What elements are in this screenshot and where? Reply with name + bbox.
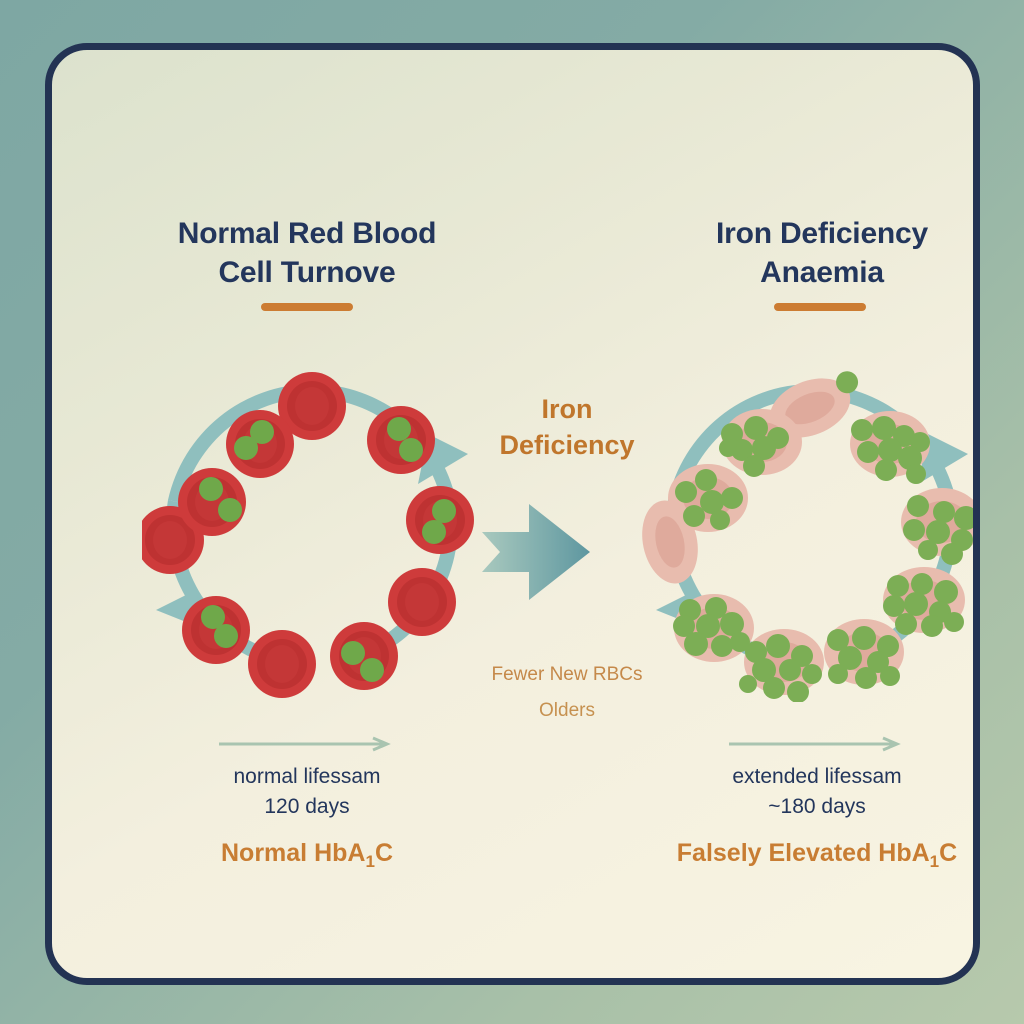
transition-note-2: Olders [457, 700, 677, 722]
transition-title: Iron Deficiency [457, 391, 677, 463]
right-title-line-1: Iron Deficiency [652, 214, 980, 253]
pale-blood-cells-right [642, 362, 980, 702]
left-hba1c-subscript: 1 [365, 852, 374, 871]
left-lifespan-label: normal lifessam [107, 762, 507, 792]
lifespan-arrow-right [727, 736, 907, 752]
right-hba1c-suffix: C [939, 839, 957, 867]
left-hba1c-suffix: C [375, 839, 393, 867]
infographic-panel: Normal Red Blood Cell Turnove Iron Defic… [45, 43, 980, 985]
right-hba1c-result: Falsely Elevated HbA1C [617, 839, 980, 872]
left-hba1c-prefix: Normal HbA [221, 839, 365, 867]
right-lifespan-days: ~180 days [617, 792, 980, 822]
transition-note-1: Fewer New RBCs [457, 664, 677, 686]
left-lifespan-days: 120 days [107, 792, 507, 822]
right-title-line-2: Anaemia [652, 253, 980, 292]
lifespan-arrow-left [217, 736, 397, 752]
transition-arrow [482, 490, 652, 615]
left-panel-title: Normal Red Blood Cell Turnove [137, 214, 477, 292]
normal-rbc-cycle-diagram [142, 362, 482, 702]
left-panel-footer: normal lifessam 120 days Normal HbA1C [107, 736, 507, 872]
right-panel-title: Iron Deficiency Anaemia [652, 214, 980, 292]
left-title-line-1: Normal Red Blood [137, 214, 477, 253]
left-title-underline [261, 303, 353, 311]
iron-deficiency-rbc-cycle-diagram [642, 362, 980, 702]
left-hba1c-result: Normal HbA1C [107, 839, 507, 872]
right-lifespan-label: extended lifessam [617, 762, 980, 792]
right-title-underline [774, 303, 866, 311]
red-blood-cells-left [142, 372, 474, 698]
right-panel-footer: extended lifessam ~180 days Falsely Elev… [617, 736, 980, 872]
transition-title-line-1: Iron [457, 391, 677, 427]
right-hba1c-prefix: Falsely Elevated HbA [677, 839, 930, 867]
right-hba1c-subscript: 1 [930, 852, 939, 871]
left-title-line-2: Cell Turnove [137, 253, 477, 292]
figure-canvas: Normal Red Blood Cell Turnove Iron Defic… [0, 0, 1024, 1024]
transition-title-line-2: Deficiency [457, 427, 677, 463]
